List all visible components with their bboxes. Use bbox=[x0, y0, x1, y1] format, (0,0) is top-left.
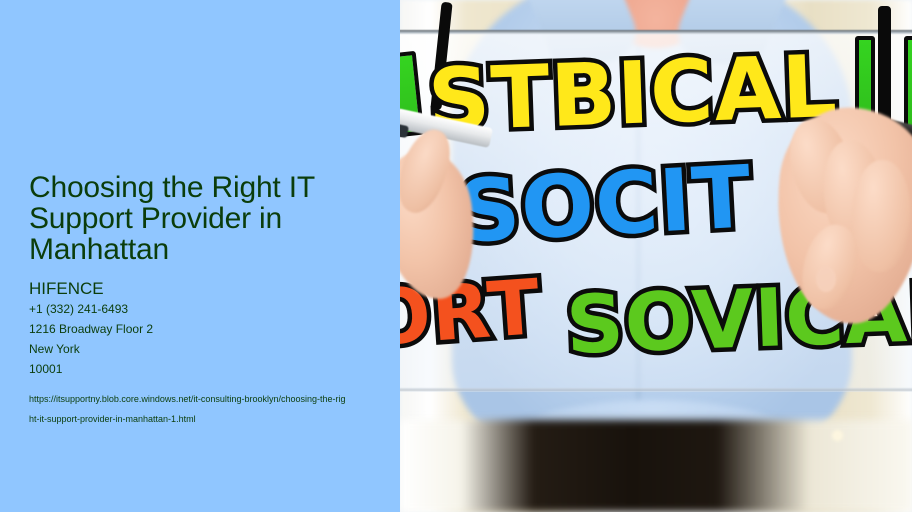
page-title: Choosing the Right IT Support Provider i… bbox=[29, 172, 359, 265]
contact-zip: 10001 bbox=[29, 359, 379, 379]
contact-phone: +1 (332) 241-6493 bbox=[29, 299, 379, 319]
shirt-button bbox=[832, 430, 843, 441]
contact-street: 1216 Broadway Floor 2 bbox=[29, 319, 379, 339]
brand-name: HIFENCE bbox=[29, 279, 379, 299]
whiteboard-word-blue: SOCIT bbox=[456, 147, 755, 262]
contact-city: New York bbox=[29, 339, 379, 359]
glass-top-edge bbox=[400, 30, 912, 34]
black-stroke-mark bbox=[878, 6, 891, 126]
left-text-panel: Choosing the Right IT Support Provider i… bbox=[0, 0, 400, 512]
glass-bottom-edge bbox=[400, 388, 912, 391]
page-root: Choosing the Right IT Support Provider i… bbox=[0, 0, 912, 512]
text-stack: Choosing the Right IT Support Provider i… bbox=[29, 172, 379, 429]
hero-image-panel: STBICAL SOCIT ORT SOVICAL bbox=[400, 0, 912, 512]
green-bar-stroke bbox=[904, 36, 912, 132]
fingernail bbox=[816, 266, 836, 292]
source-url: https://itsupportny.blob.core.windows.ne… bbox=[29, 389, 349, 429]
